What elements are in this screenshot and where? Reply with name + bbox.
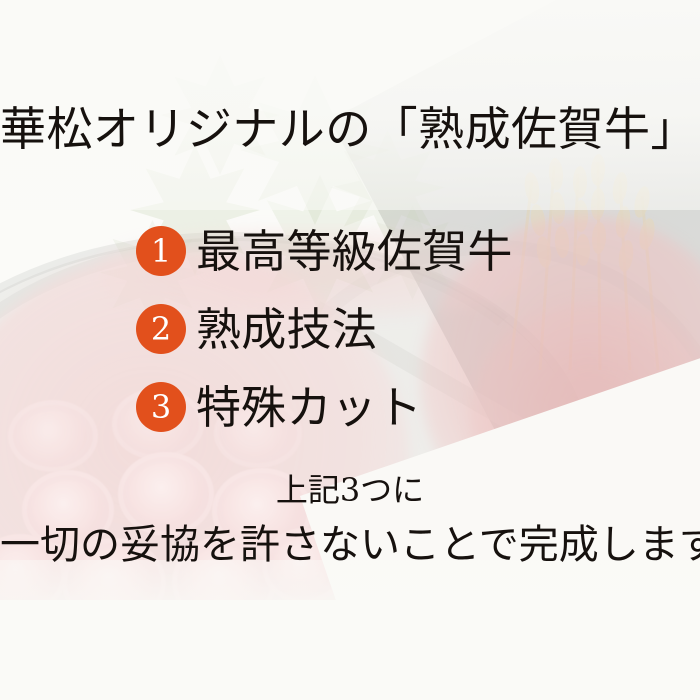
feature-list: 1 最高等級佐賀牛 2 熟成技法 3 特殊カット bbox=[0, 212, 700, 446]
footnote-line-2: 一切の妥協を許さないことで完成します。 bbox=[0, 518, 700, 572]
banner-content: 華松オリジナルの「熟成佐賀牛」は、 1 最高等級佐賀牛 2 熟成技法 3 特殊カ… bbox=[0, 0, 700, 700]
feature-label-2: 熟成技法 bbox=[196, 307, 377, 352]
feature-item-1: 1 最高等級佐賀牛 bbox=[0, 212, 700, 290]
feature-item-3: 3 特殊カット bbox=[0, 368, 700, 446]
feature-label-1: 最高等級佐賀牛 bbox=[196, 229, 513, 274]
headline: 華松オリジナルの「熟成佐賀牛」は、 bbox=[0, 104, 700, 155]
footnote: 上記3つに 一切の妥協を許さないことで完成します。 bbox=[0, 470, 700, 572]
number-badge-1: 1 bbox=[136, 226, 186, 276]
feature-label-3: 特殊カット bbox=[196, 385, 422, 430]
number-badge-3: 3 bbox=[136, 382, 186, 432]
footnote-line-1: 上記3つに bbox=[0, 470, 700, 510]
feature-item-2: 2 熟成技法 bbox=[0, 290, 700, 368]
promo-banner: 華松オリジナルの「熟成佐賀牛」は、 1 最高等級佐賀牛 2 熟成技法 3 特殊カ… bbox=[0, 0, 700, 700]
number-badge-2: 2 bbox=[136, 304, 186, 354]
